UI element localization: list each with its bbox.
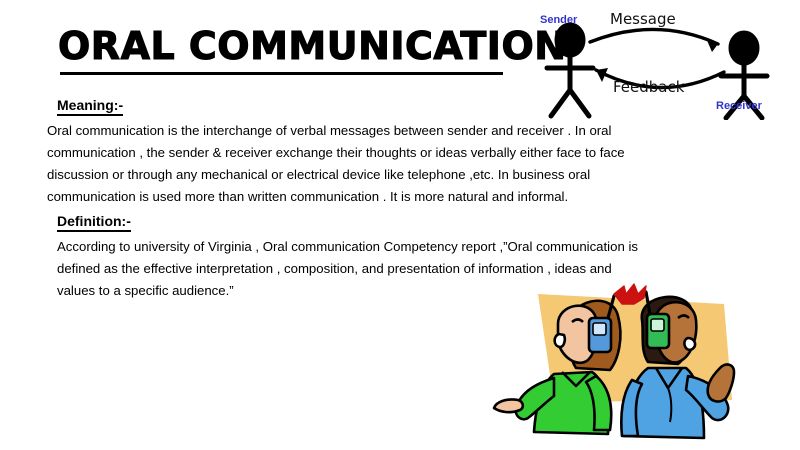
body-line: communication , the sender & receiver ex… <box>47 142 707 164</box>
section-body-meaning: Oral communication is the interchange of… <box>47 120 707 208</box>
body-line: discussion or through any mechanical or … <box>47 164 707 186</box>
section-heading-meaning-label: Meaning:- <box>57 97 123 113</box>
page-title: ORAL COMMUNICATION <box>58 27 567 65</box>
message-arrow <box>590 29 718 52</box>
clipart-people-on-phones <box>492 282 792 444</box>
diagram-label-sender: Sender <box>540 14 577 26</box>
section-heading-definition-label: Definition:- <box>57 213 131 229</box>
section-heading-definition-underline <box>57 230 131 232</box>
body-line: defined as the effective interpretation … <box>57 258 757 280</box>
diagram-label-message: Message <box>610 10 676 28</box>
section-heading-meaning: Meaning:- <box>57 97 123 116</box>
section-heading-meaning-underline <box>57 114 123 116</box>
sender-stick-figure <box>547 23 593 116</box>
body-line: According to university of Virginia , Or… <box>57 236 757 258</box>
body-line: communication is used more than written … <box>47 186 707 208</box>
diagram-label-feedback: Feedback <box>613 78 684 96</box>
communication-diagram: Sender Receiver Message Feedback <box>528 8 796 120</box>
clipart-svg <box>492 282 792 444</box>
section-heading-definition: Definition:- <box>57 213 131 232</box>
slide-canvas: ORAL COMMUNICATION Meaning:- Oral commun… <box>0 0 800 450</box>
diagram-label-receiver: Receiver <box>716 100 762 112</box>
body-line: Oral communication is the interchange of… <box>47 120 707 142</box>
title-underline <box>60 72 503 75</box>
